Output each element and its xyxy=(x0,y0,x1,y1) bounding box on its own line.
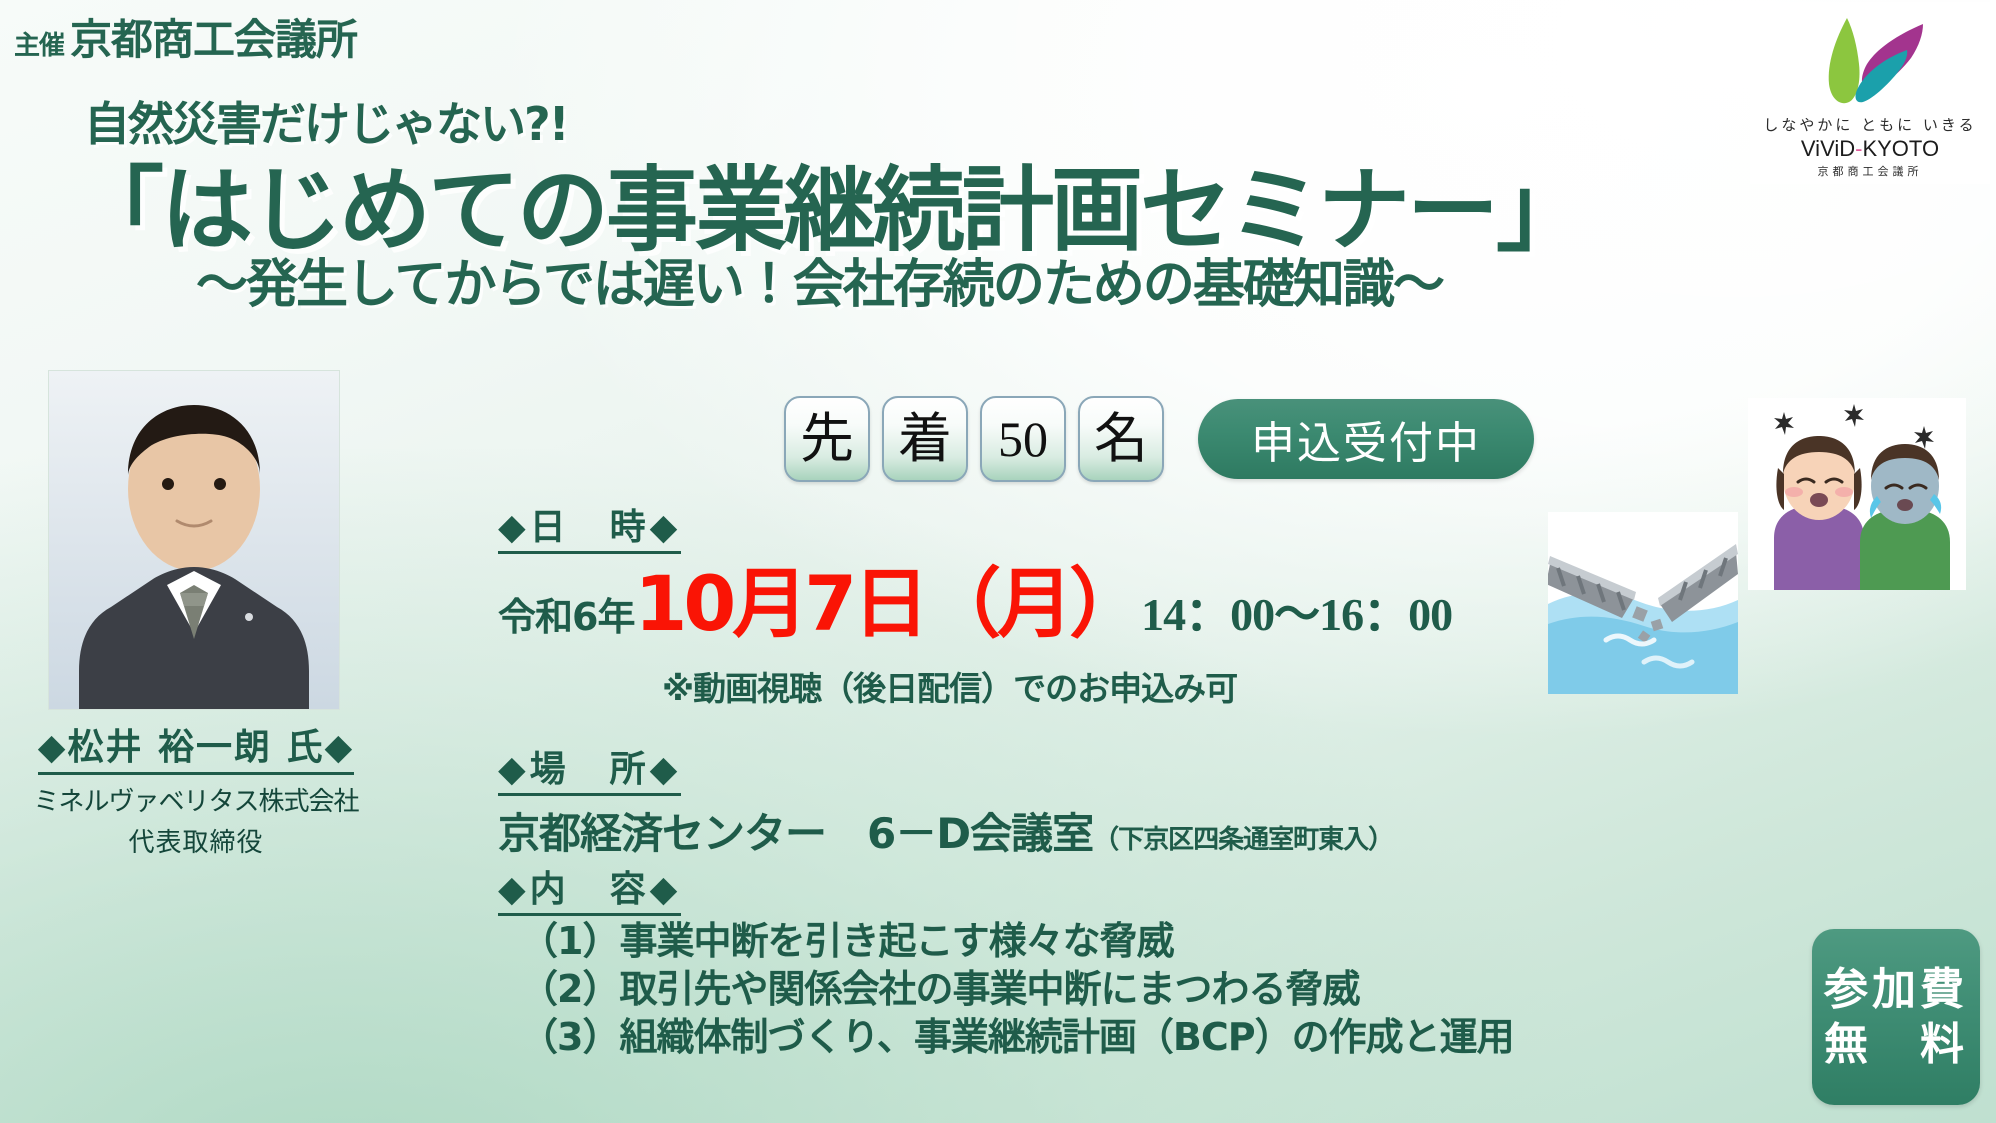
speaker-role: 代表取締役 xyxy=(6,822,386,859)
video-note: ※動画視聴（後日配信）でのお申込み可 xyxy=(662,662,1237,710)
date-row: 令和6年 10月7日（月） 14：00〜16：00 xyxy=(498,566,1452,644)
speaker-name: ◆松井 裕一朗 氏◆ xyxy=(38,718,354,775)
speaker-company: ミネルヴァベリタス株式会社 xyxy=(6,781,386,818)
date-era: 令和6年 xyxy=(498,586,634,641)
logo-brand-vivid: ViViD xyxy=(1801,136,1855,161)
organizer-prefix: 主催 xyxy=(14,25,64,62)
sick-people-illustration xyxy=(1748,398,1966,590)
vivid-bird-mark-icon xyxy=(1795,6,1945,116)
label-place: ◆場 所◆ xyxy=(498,740,681,796)
fee-badge-line1: 参加費 xyxy=(1824,962,1968,1017)
place-address: （下京区四条通室町東入） xyxy=(1093,819,1393,856)
fee-badge: 参加費 無 料 xyxy=(1812,929,1980,1105)
logo-subtitle: 京都商工会議所 xyxy=(1818,163,1923,179)
apply-status-button[interactable]: 申込受付中 xyxy=(1198,399,1534,479)
capacity-badge-row: 先 着 50 名 申込受付中 xyxy=(784,396,1534,482)
capacity-box-number: 50 xyxy=(980,396,1066,482)
vivid-kyoto-logo: しなやかに ともに いきる ViViD-KYOTO 京都商工会議所 xyxy=(1750,2,1990,184)
time-range: 14：00〜16：00 xyxy=(1141,578,1452,644)
capacity-box-1: 先 xyxy=(784,396,870,482)
agenda-item: （3）組織体制づくり、事業継続計画（BCP）の作成と運用 xyxy=(520,1014,1514,1062)
speaker-portrait-photo xyxy=(49,371,339,709)
headline-subtitle: 〜発生してからでは遅い！会社存続のための基礎知識〜 xyxy=(196,242,1443,317)
organizer-line: 主催 京都商工会議所 xyxy=(14,6,357,67)
speaker-info: ◆松井 裕一朗 氏◆ ミネルヴァベリタス株式会社 代表取締役 xyxy=(6,718,386,859)
capacity-box-4: 名 xyxy=(1078,396,1164,482)
broken-bridge-icon xyxy=(1548,512,1738,694)
logo-brand: ViViD-KYOTO xyxy=(1801,136,1939,162)
fee-badge-line2: 無 料 xyxy=(1824,1017,1968,1072)
speaker-portrait xyxy=(48,370,340,710)
agenda-item: （1）事業中断を引き起こす様々な脅威 xyxy=(520,918,1514,966)
sick-people-icon xyxy=(1748,398,1966,590)
agenda-item: （2）取引先や関係会社の事業中断にまつわる脅威 xyxy=(520,966,1514,1014)
place-value: 京都経済センター 6－D会議室 （下京区四条通室町東入） xyxy=(498,800,1393,861)
broken-bridge-illustration xyxy=(1548,512,1738,694)
apply-status-label: 申込受付中 xyxy=(1251,407,1481,471)
seminar-flyer: 主催 京都商工会議所 しなやかに ともに いきる ViViD-KYOTO 京都商… xyxy=(0,0,1996,1123)
label-content: ◆内 容◆ xyxy=(498,860,681,916)
logo-brand-city: KYOTO xyxy=(1862,136,1939,161)
label-date: ◆日 時◆ xyxy=(498,498,681,554)
agenda-list: （1）事業中断を引き起こす様々な脅威 （2）取引先や関係会社の事業中断にまつわる… xyxy=(520,918,1514,1062)
logo-tagline: しなやかに ともに いきる xyxy=(1763,114,1976,135)
capacity-box-2: 着 xyxy=(882,396,968,482)
organizer-name: 京都商工会議所 xyxy=(70,6,357,67)
date-main: 10月7日（月） xyxy=(634,566,1141,642)
place-venue: 京都経済センター 6－D会議室 xyxy=(498,800,1093,861)
